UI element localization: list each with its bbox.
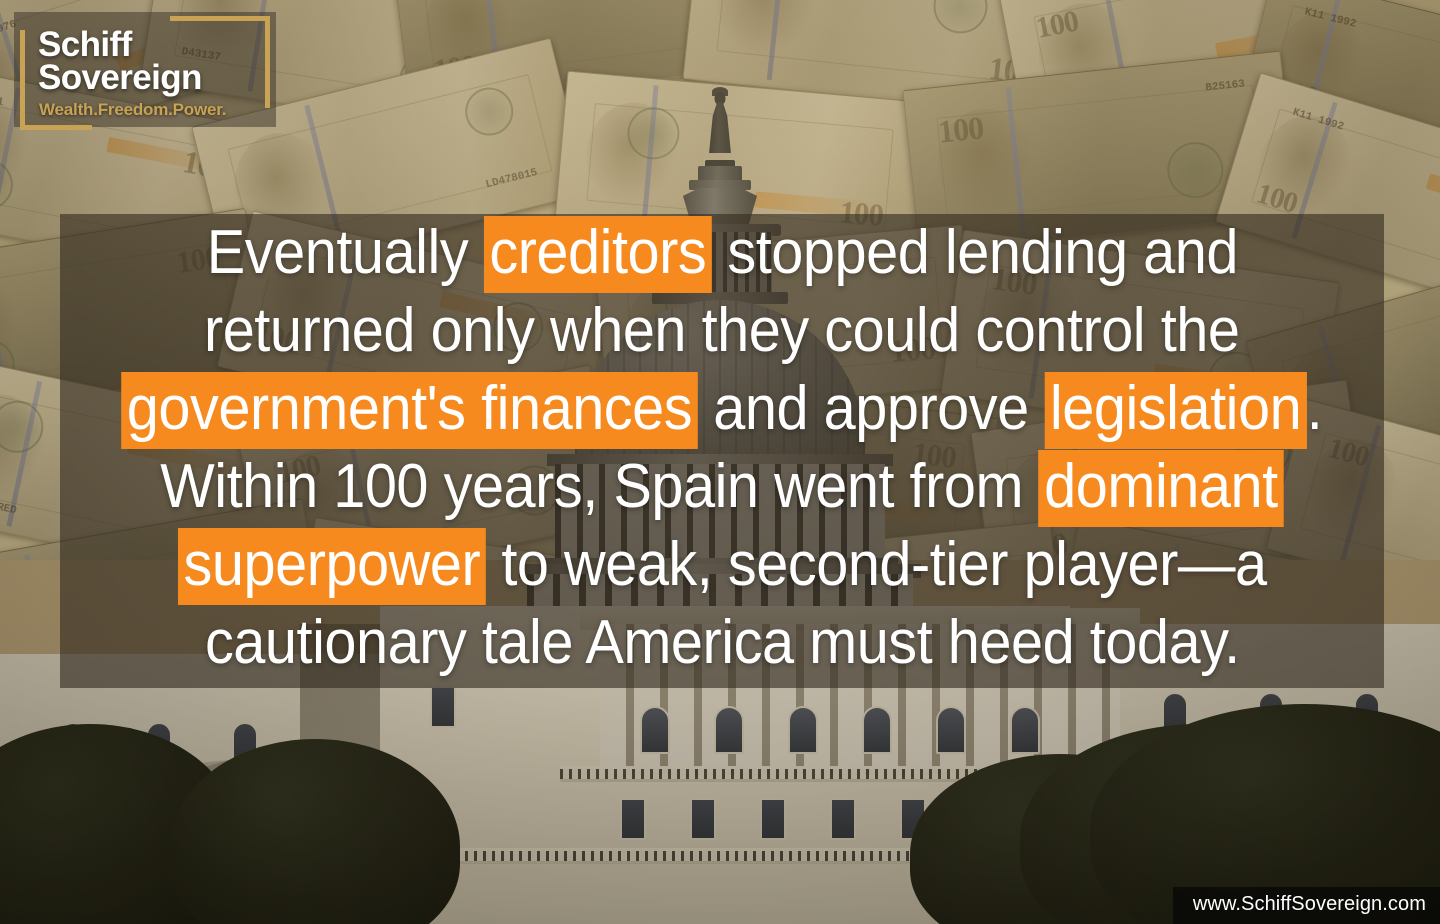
logo-brand-line1: Schiff xyxy=(38,28,202,61)
quote-plain: returned only when they could control th… xyxy=(204,296,1239,365)
quote-line2: returned only when they could control th… xyxy=(204,292,1239,370)
quote-line4: Within 100 years, Spain went from domina… xyxy=(161,448,1284,526)
quote-plain: and approve xyxy=(698,374,1045,443)
schiff-sovereign-logo[interactable]: Schiff Sovereign Wealth.Freedom.Power. xyxy=(14,12,276,127)
website-url-bar[interactable]: www.SchiffSovereign.com xyxy=(1173,887,1440,924)
quote-line1: Eventually creditors stopped lending and xyxy=(206,214,1237,292)
quote-plain: to weak, second-tier player—a xyxy=(485,530,1266,599)
quote-plain: . xyxy=(1307,374,1323,443)
quote-highlight: dominant xyxy=(1039,450,1284,527)
quote-highlight: government's finances xyxy=(121,372,698,449)
quote-highlight: superpower xyxy=(178,528,486,605)
quote-plain: Within 100 years, Spain went from xyxy=(161,452,1039,521)
logo-brand-line2: Sovereign xyxy=(38,61,202,94)
website-url-text: www.SchiffSovereign.com xyxy=(1193,893,1426,915)
statue-of-freedom xyxy=(705,92,735,168)
quote-plain: Eventually xyxy=(206,218,483,287)
quote-text-block: Eventually creditors stopped lending and… xyxy=(60,214,1384,688)
quote-plain: stopped lending and xyxy=(711,218,1237,287)
quote-line3: government's finances and approve legisl… xyxy=(121,370,1322,448)
quote-highlight: creditors xyxy=(483,216,711,293)
quote-line5: superpower to weak, second-tier player—a xyxy=(178,526,1267,604)
logo-brand-name: Schiff Sovereign xyxy=(38,28,202,94)
quote-overlay-panel: Eventually creditors stopped lending and… xyxy=(60,214,1384,688)
quote-line6: cautionary tale America must heed today. xyxy=(205,604,1240,682)
quote-highlight: legislation xyxy=(1045,372,1307,449)
quote-plain: cautionary tale America must heed today. xyxy=(205,608,1240,677)
quote-card: 100 LB63621976 100 D43137 100 LK32695 10… xyxy=(0,0,1440,924)
logo-tagline: Wealth.Freedom.Power. xyxy=(39,100,226,120)
